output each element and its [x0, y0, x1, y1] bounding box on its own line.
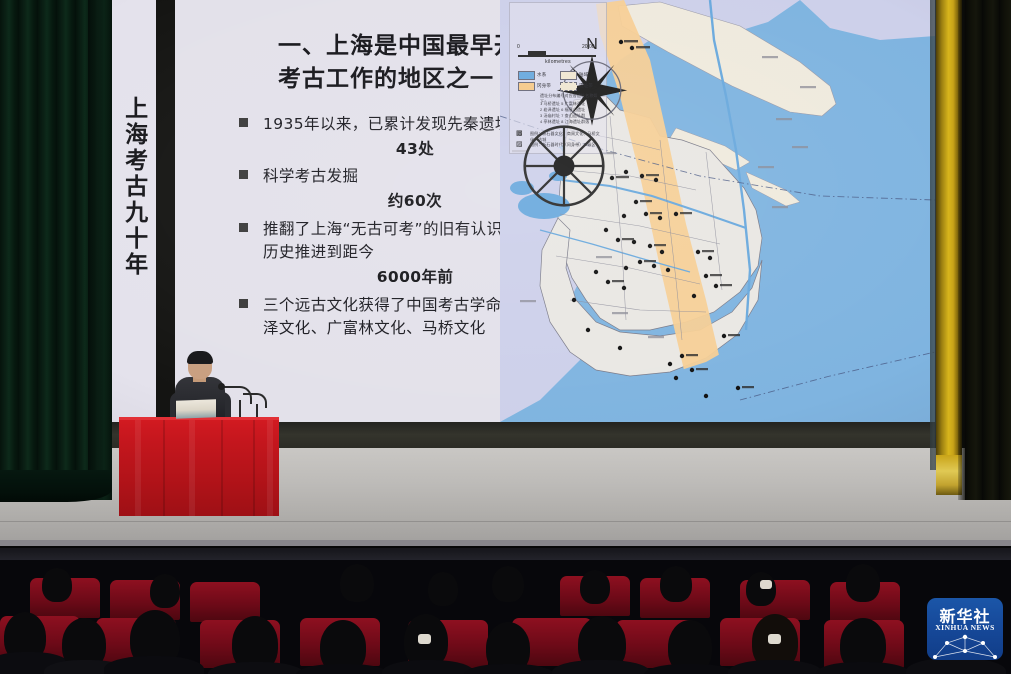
stage-front-edge — [0, 540, 1011, 546]
scale-unit-label: kilometres — [510, 59, 606, 65]
audience-head — [428, 572, 458, 606]
audience-head — [150, 574, 180, 608]
bullet-square-icon — [239, 299, 248, 308]
slide-content-area: 一、上海是中国最早开展 考古工作的地区之一 1935年以来，已累计发现先秦遗址 … — [175, 0, 935, 422]
bullet-text: 科学考古发掘 — [263, 167, 358, 185]
bullet-square-icon — [239, 118, 248, 127]
audience-shoulders — [728, 660, 822, 674]
network-graphic-icon — [927, 631, 1003, 660]
legend-note-3: 3 汤庙村址 7 查山遗址群 — [540, 113, 602, 119]
legend-symbol-note-0: 图例：新石器文化、商周文化、马桥文化、古城 — [530, 131, 604, 143]
zone-symbol-icon: ▨ — [516, 140, 523, 148]
scale-min-label: 0 — [517, 44, 520, 50]
audience-head — [846, 564, 880, 602]
audience-shoulders — [382, 660, 474, 674]
legend-note-2: 2 崧泽遗址 6 福泉山遗址 — [540, 107, 602, 113]
audience-shoulders — [208, 662, 304, 674]
audience-head — [746, 572, 776, 606]
hair-clip — [768, 634, 781, 644]
legend-label-sand-band: 冈身带 — [537, 83, 551, 89]
map-legend: N 0 20.00 — [509, 2, 607, 154]
legend-symbol-note-1: 图例：新石器时代（冈身带）二级区 — [530, 142, 604, 148]
legend-swatch-site-zone — [560, 71, 577, 80]
scale-bar — [518, 55, 596, 57]
bullet-square-icon — [239, 170, 248, 179]
audience-head — [660, 566, 692, 602]
speaker-glasses-icon — [190, 363, 210, 368]
site-symbol-icon: ▩ — [516, 129, 523, 137]
audience-head — [580, 570, 610, 604]
lecture-hall-photograph: 上海考古九十年 一、上海是中国最早开展 考古工作的地区之一 1935年以来，已累… — [0, 0, 1011, 674]
left-curtain-hem — [0, 470, 112, 502]
left-curtain-shadow — [88, 0, 112, 500]
legend-label-site-zone: 陆域 — [579, 72, 588, 78]
speaker-documents — [176, 399, 216, 418]
hair-clip — [760, 580, 772, 589]
audience-head — [42, 568, 72, 602]
legend-label-boundary: 遗址带 — [579, 83, 593, 89]
legend-swatch-sand-band — [518, 82, 535, 91]
legend-label-water: 水系 — [537, 72, 546, 78]
projection-screen: 上海考古九十年 一、上海是中国最早开展 考古工作的地区之一 1935年以来，已累… — [110, 0, 935, 422]
audience-head — [340, 564, 374, 602]
audience-head — [492, 566, 524, 602]
legend-swatch-boundary — [560, 82, 577, 91]
legend-note-4: 4 亭林遗址 8 江海遗址群落 — [540, 119, 602, 125]
stage-floor-seam — [0, 521, 1011, 522]
red-table-cloth — [119, 420, 279, 516]
legend-swatch-water — [518, 71, 535, 80]
audience-shoulders — [906, 658, 1006, 674]
bullet-text: 1935年以来，已累计发现先秦遗址 — [263, 115, 511, 133]
scale-bar-segment — [528, 51, 546, 55]
slide-vertical-title: 上海考古九十年 — [119, 96, 146, 278]
audience-area — [0, 560, 1011, 674]
xinhua-news-watermark: 新华社 XINHUA NEWS — [927, 598, 1003, 660]
audience-shoulders — [104, 656, 204, 674]
microphone-arm-secondary — [243, 393, 267, 408]
legend-note-1: 1 马桥遗址 5 广富林遗址 — [540, 101, 602, 107]
shanghai-archaeology-map: N 0 20.00 — [500, 0, 935, 422]
scale-max-label: 20.00 — [582, 44, 595, 50]
hair-clip — [418, 634, 431, 644]
microphone-head-icon — [218, 383, 225, 390]
slide-side-strip: 上海考古九十年 — [110, 0, 156, 422]
right-stage-curtain — [965, 0, 1011, 500]
audience-shoulders — [552, 660, 650, 674]
bullet-square-icon — [239, 223, 248, 232]
slide-divider-band — [156, 0, 175, 422]
